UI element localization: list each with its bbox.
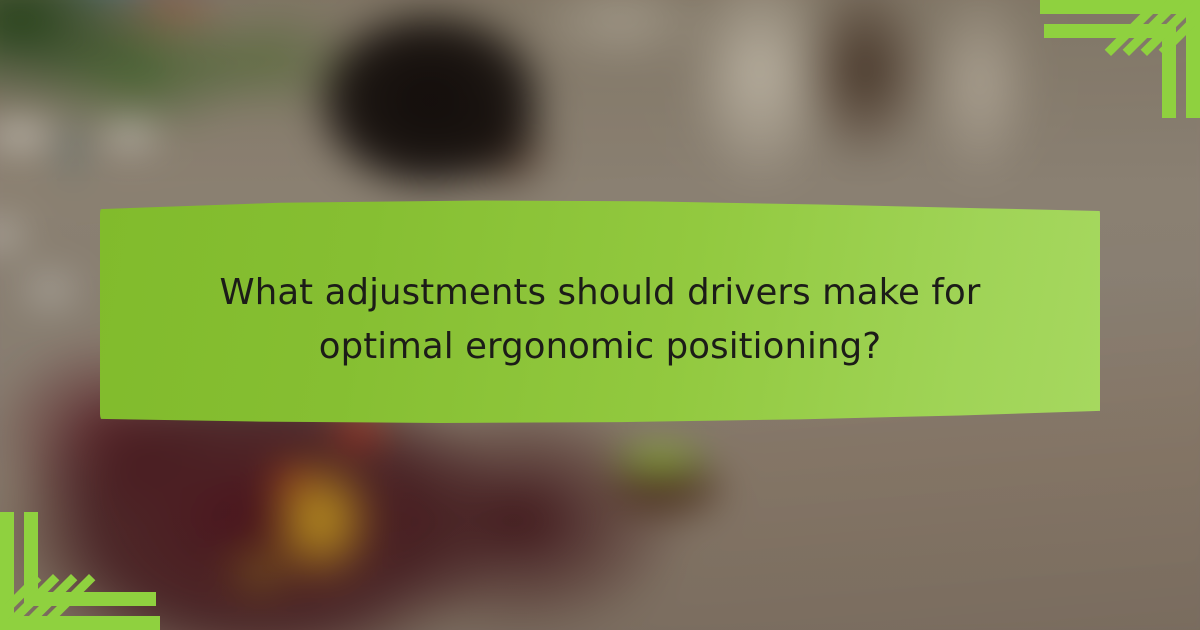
headline-line-1: What adjustments should drivers make for bbox=[220, 272, 981, 313]
headline-text: What adjustments should drivers make for… bbox=[170, 254, 1030, 374]
top-right-corner-bracket bbox=[1040, 0, 1200, 118]
bottom-left-corner-bracket bbox=[0, 512, 160, 630]
social-share-card: What adjustments should drivers make for… bbox=[0, 0, 1200, 630]
headline-line-2: optimal ergonomic positioning? bbox=[319, 326, 881, 367]
headline-banner: What adjustments should drivers make for… bbox=[100, 200, 1100, 428]
